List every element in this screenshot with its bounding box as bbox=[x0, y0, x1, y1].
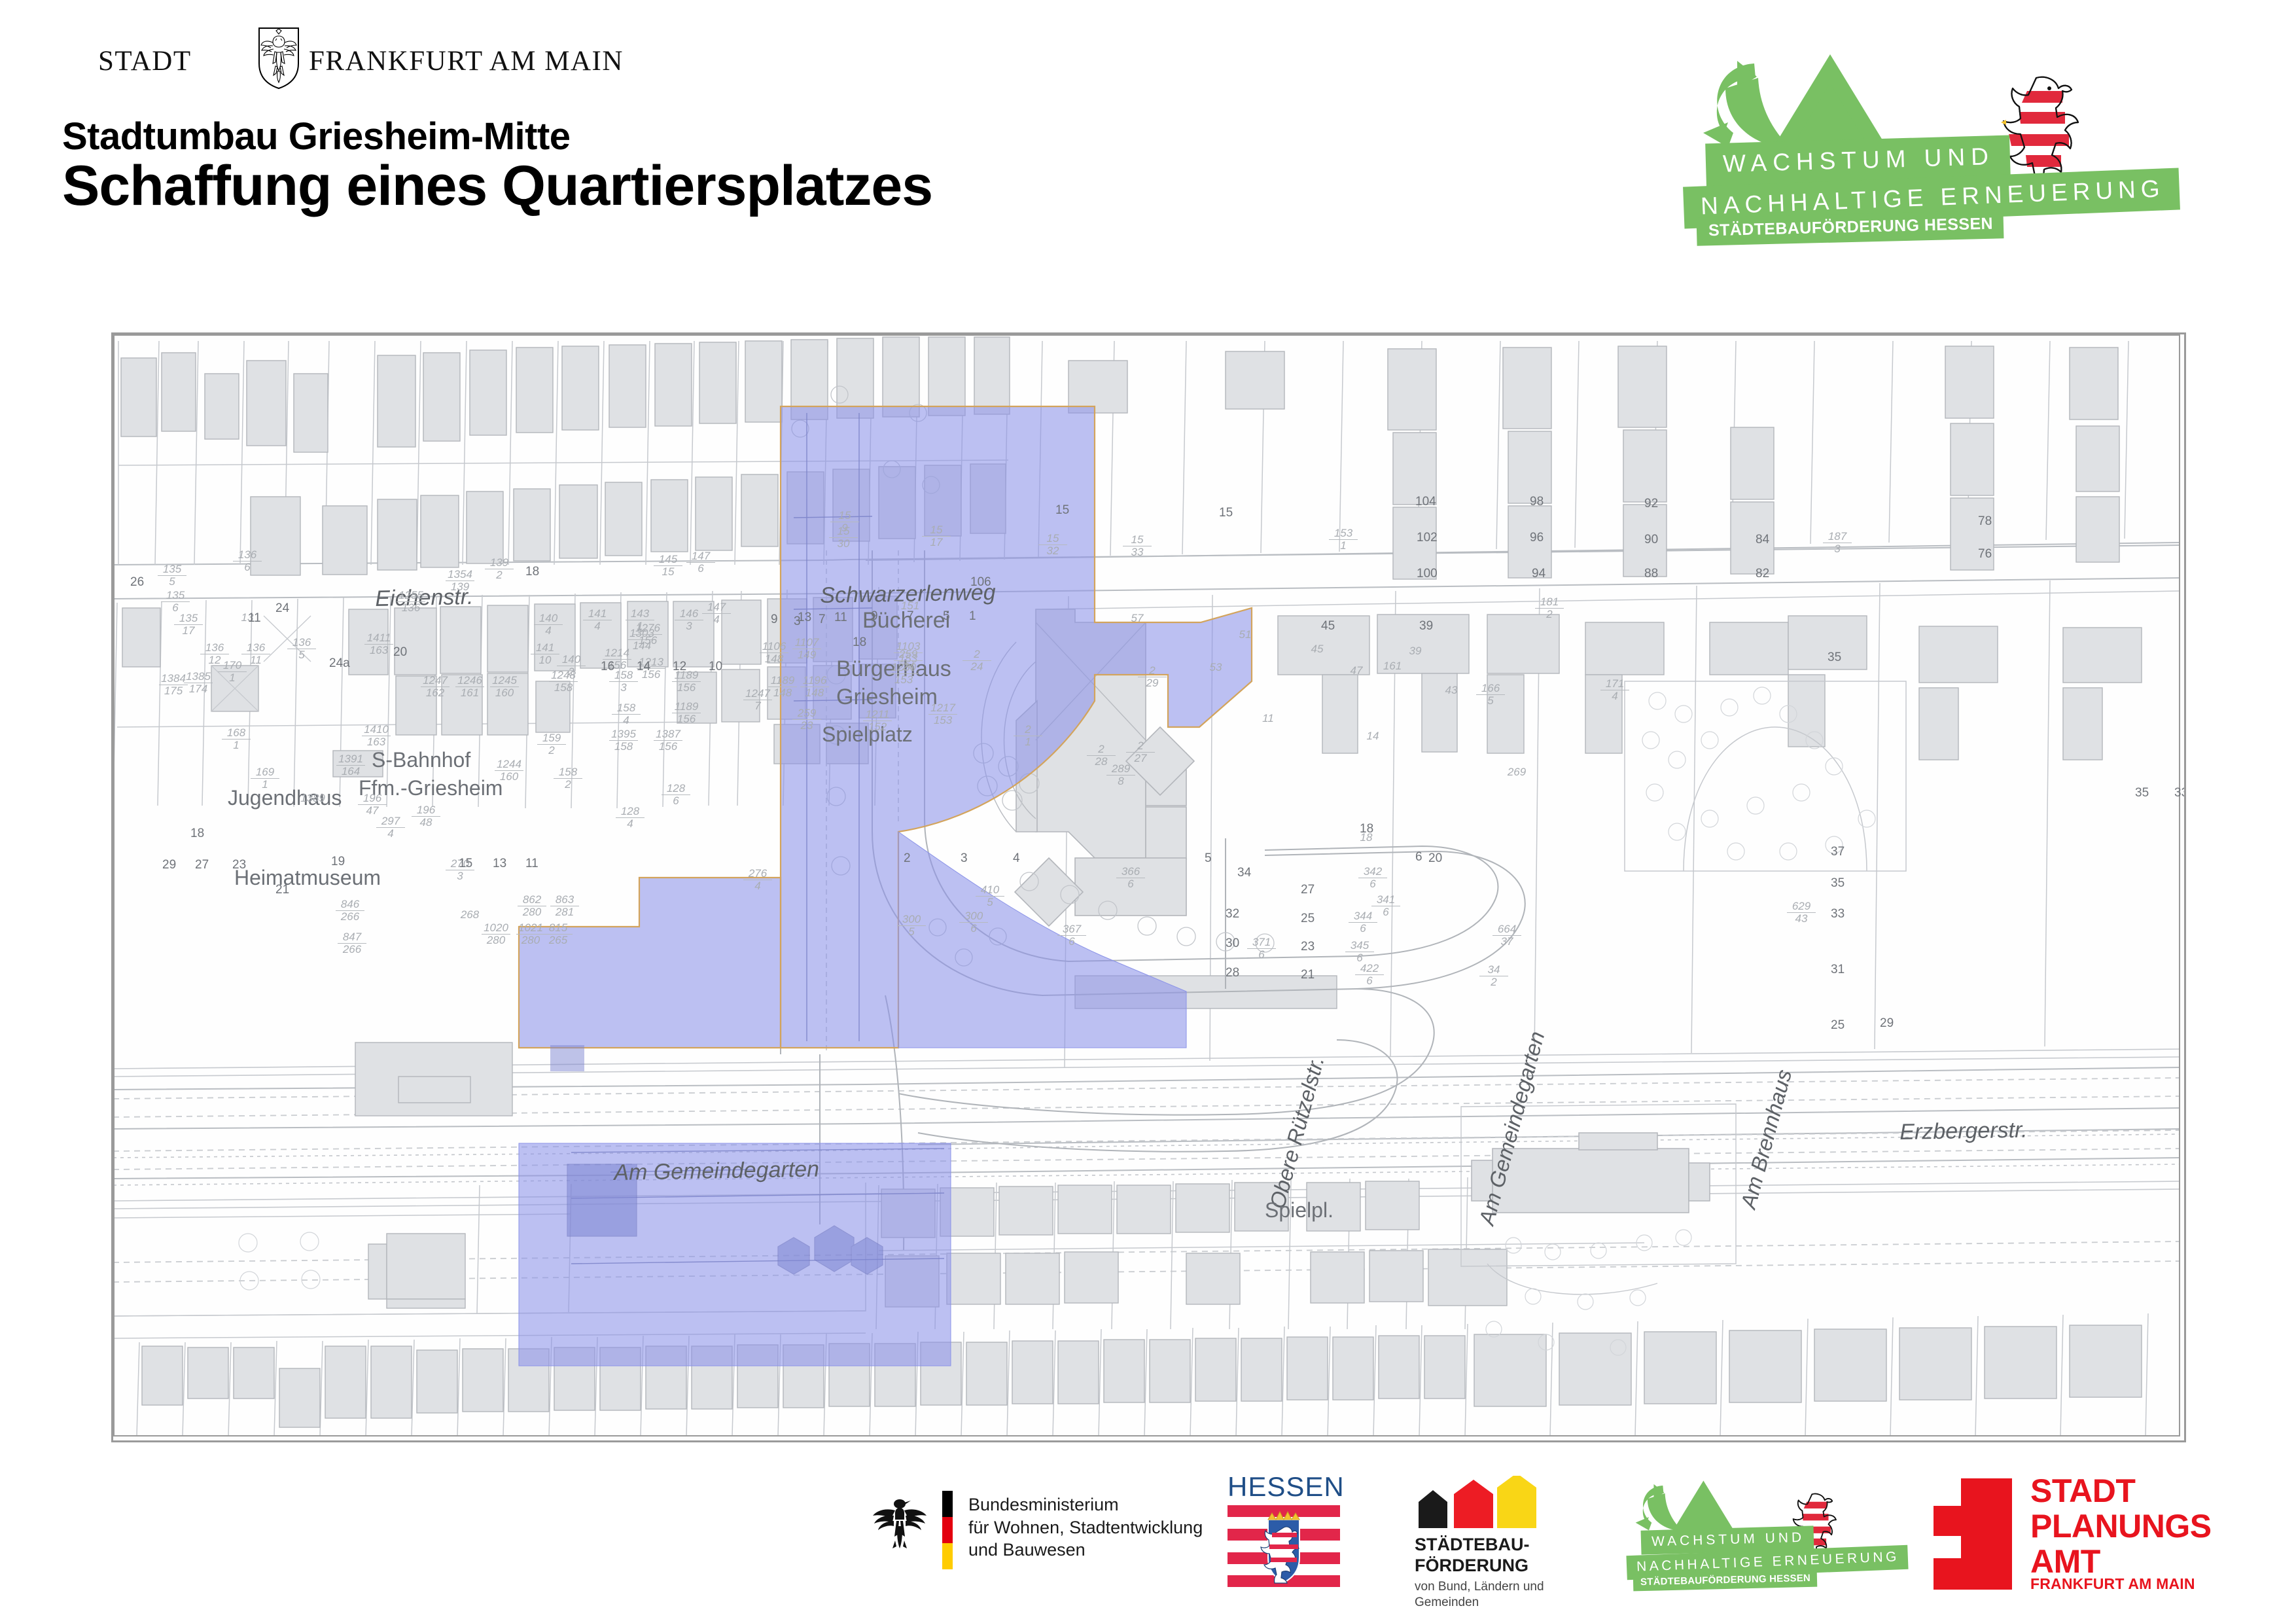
three-houses-icon bbox=[1416, 1476, 1538, 1528]
page-subtitle: Stadtumbau Griesheim-Mitte bbox=[62, 115, 571, 158]
frankfurt-eagle-crest-icon bbox=[255, 26, 302, 90]
bmwsb-logo: Bundesministerium für Wohnen, Stadtentwi… bbox=[870, 1486, 1237, 1577]
city-logo-word-frankfurt-am-main: FRANKFURT AM MAIN bbox=[309, 45, 624, 77]
stadtplanungsamt-name: STADT PLANUNGS AMT bbox=[2030, 1473, 2212, 1579]
wachstum-erneuerung-logo: WACHSTUM UND NACHHALTIGE ERNEUERUNG STÄD… bbox=[1691, 49, 2228, 200]
bmwsb-line2: für Wohnen, Stadtentwicklung bbox=[968, 1518, 1203, 1537]
spa-line3: AMT bbox=[2030, 1543, 2100, 1580]
map-vector-layer bbox=[113, 334, 2180, 1436]
spa-line2: PLANUNGS bbox=[2030, 1508, 2212, 1544]
bmwsb-line1: Bundesministerium bbox=[968, 1495, 1119, 1514]
bmwsb-name: Bundesministerium für Wohnen, Stadtentwi… bbox=[968, 1493, 1203, 1561]
stadtplanungsamt-logo: STADT PLANUNGS AMT FRANKFURT AM MAIN bbox=[1920, 1476, 2228, 1597]
stadtplanungsamt-mark-icon bbox=[1920, 1478, 2012, 1590]
stadtplanungsamt-subtitle: FRANKFURT AM MAIN bbox=[2030, 1575, 2195, 1593]
hessen-wordmark: HESSEN bbox=[1227, 1471, 1345, 1503]
cadastral-map[interactable]: Eichenstr.SchwarzerlenwegErzbergerstr.Am… bbox=[111, 332, 2186, 1442]
page-title: Schaffung eines Quartiersplatzes bbox=[62, 154, 932, 219]
funding-logo-bar: Bundesministerium für Wohnen, Stadtentwi… bbox=[0, 1446, 2296, 1623]
hessen-flag-icon bbox=[1227, 1505, 1340, 1587]
page-header: STADT bbox=[0, 0, 2296, 327]
city-logo-word-stadt: STADT bbox=[98, 45, 192, 77]
german-flag-icon bbox=[942, 1491, 953, 1569]
bmwsb-line3: und Bauwesen bbox=[968, 1540, 1086, 1560]
spa-line1: STADT bbox=[2030, 1472, 2135, 1509]
bundesadler-icon bbox=[870, 1493, 929, 1556]
sbf-sub1: von Bund, Ländern und bbox=[1415, 1580, 1544, 1594]
staedtebaufoerderung-subtitle: von Bund, Ländern und Gemeinden bbox=[1415, 1579, 1544, 1611]
staedtebaufoerderung-name: STÄDTEBAU- FÖRDERUNG bbox=[1415, 1535, 1530, 1577]
city-of-frankfurt-logo: STADT bbox=[98, 36, 517, 82]
staedtebaufoerderung-logo: STÄDTEBAU- FÖRDERUNG von Bund, Ländern u… bbox=[1400, 1476, 1577, 1594]
sbf-sub2: Gemeinden bbox=[1415, 1596, 1479, 1609]
map-canvas[interactable]: Eichenstr.SchwarzerlenwegErzbergerstr.Am… bbox=[113, 334, 2180, 1436]
wne-footer-line3: STÄDTEBAUFÖRDERUNG HESSEN bbox=[1633, 1570, 1818, 1592]
wachstum-erneuerung-logo-footer: WACHSTUM UND NACHHALTIGE ERNEUERUNG STÄD… bbox=[1616, 1476, 1898, 1594]
sbf-line2: FÖRDERUNG bbox=[1415, 1556, 1528, 1575]
hessen-logo: HESSEN bbox=[1224, 1471, 1348, 1589]
sbf-line1: STÄDTEBAU- bbox=[1415, 1535, 1530, 1554]
